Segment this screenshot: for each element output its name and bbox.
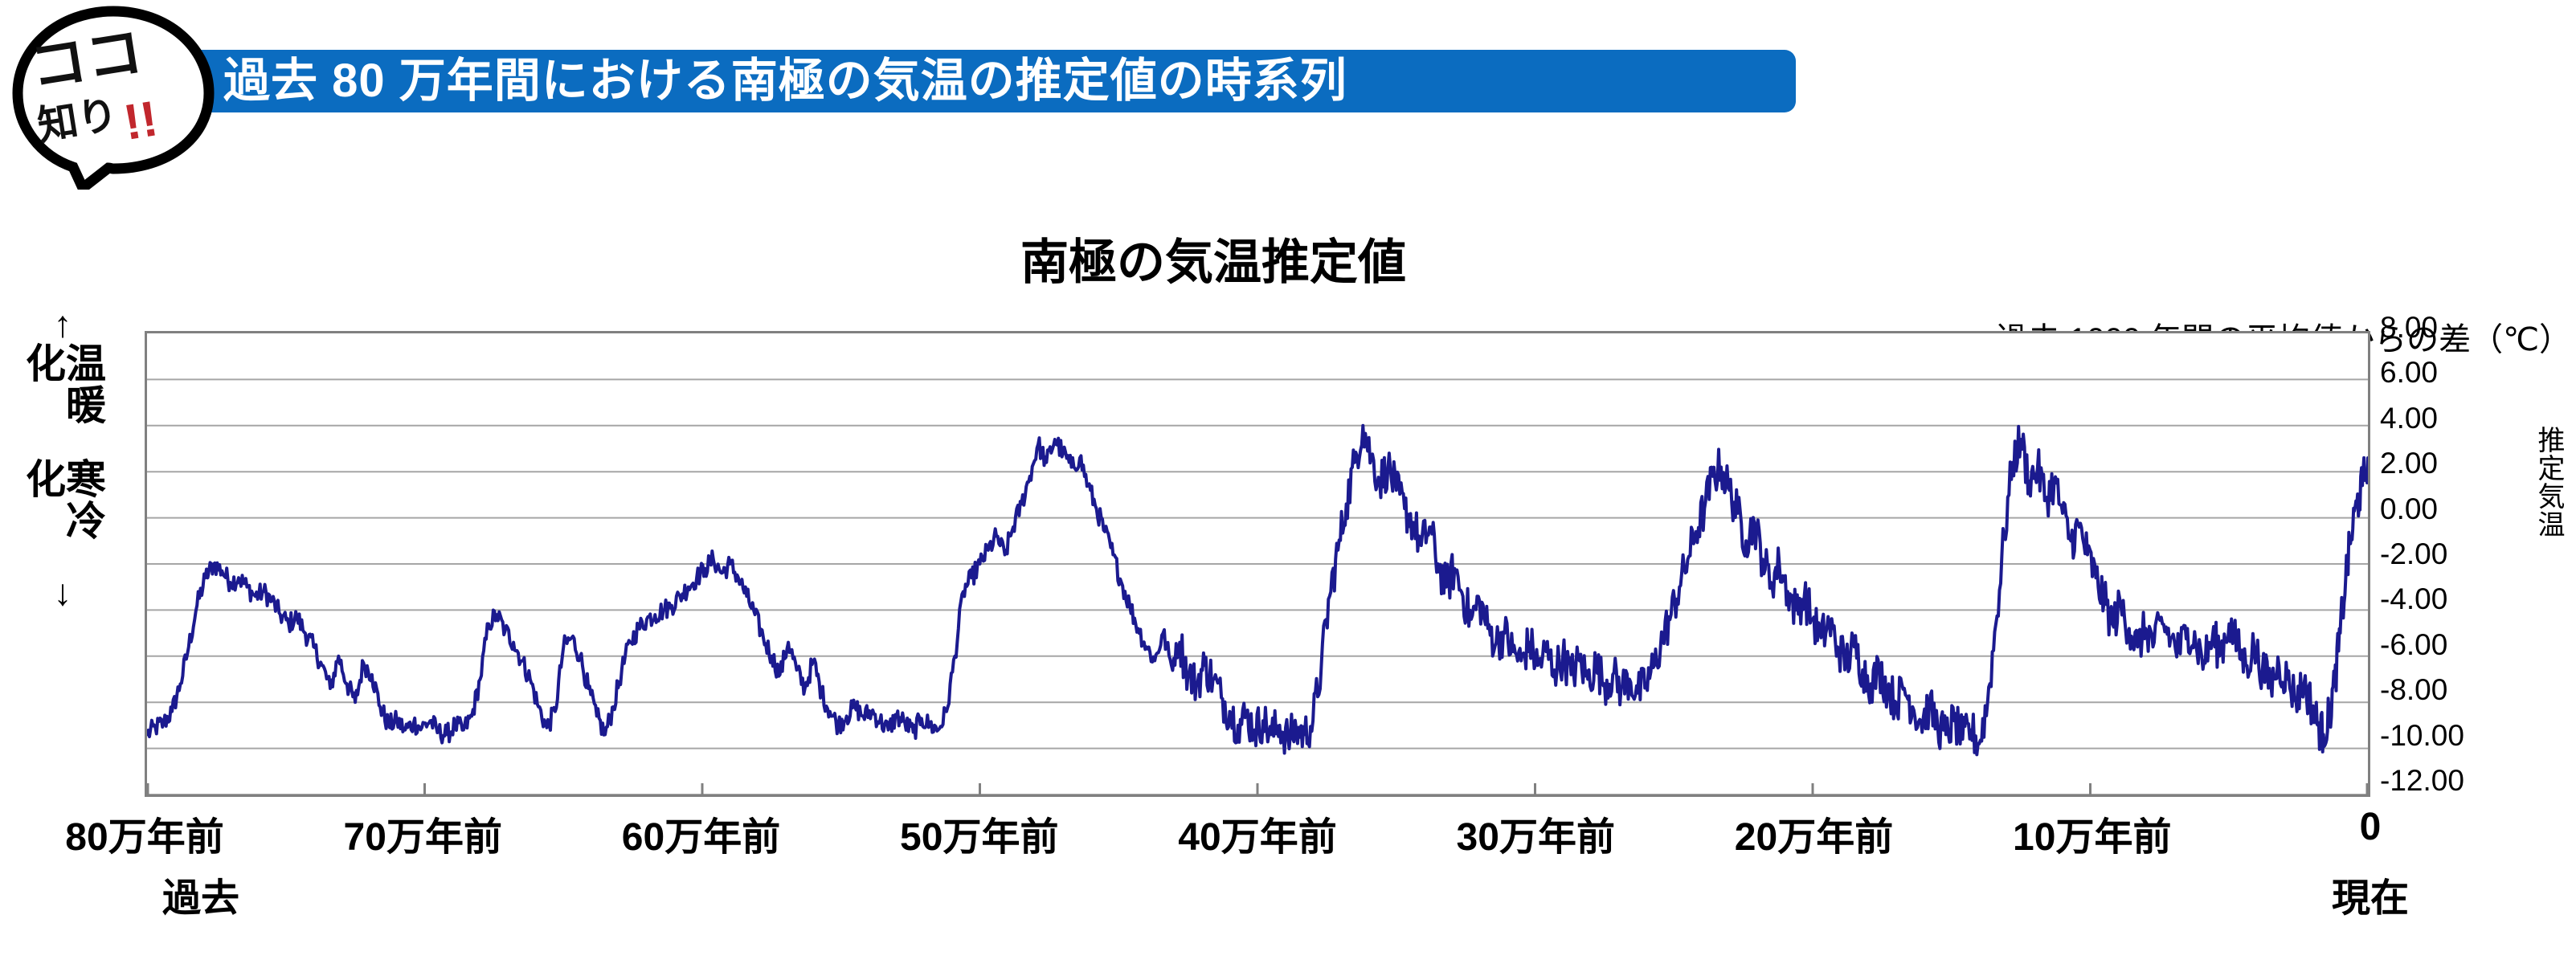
x-tick-label: 60万年前 <box>622 805 780 861</box>
x-axis-tick-labels: 80万年前70万年前60万年前50万年前40万年前30万年前20万年前10万年前… <box>0 805 2576 861</box>
warming-label: 温暖化 <box>22 342 103 458</box>
x-past-note: 過去 <box>162 866 239 922</box>
x-tick-label: 30万年前 <box>1457 805 1615 861</box>
koko-shiri-badge: ココ 知り !! <box>6 5 223 190</box>
y-tick-label: -12.00 <box>2380 764 2464 798</box>
chart-container: 南極の気温推定値 過去 1000 年間の平均値からの差（℃） ↑ 温暖化 寒冷化… <box>0 185 2576 964</box>
y-tick-label: -10.00 <box>2380 719 2464 753</box>
header-banner: 過去 80 万年間における南極の気温の推定値の時系列 ココ 知り !! <box>0 0 2576 185</box>
x-tick-label: 40万年前 <box>1178 805 1336 861</box>
title-bar: 過去 80 万年間における南極の気温の推定値の時系列 <box>193 50 1796 112</box>
down-arrow-icon: ↓ <box>54 574 72 611</box>
y-tick-label: 8.00 <box>2380 311 2438 345</box>
y-tick-label: -4.00 <box>2380 582 2447 616</box>
temperature-series-line <box>147 426 2368 755</box>
x-tick-label: 0 <box>2360 805 2382 849</box>
x-tick-label: 10万年前 <box>2013 805 2171 861</box>
x-tick-label: 70万年前 <box>344 805 502 861</box>
y-tick-label: 6.00 <box>2380 356 2438 390</box>
y-tick-label: 0.00 <box>2380 492 2438 526</box>
left-axis-annotation: ↑ 温暖化 寒冷化 ↓ <box>14 305 111 611</box>
banner-title: 過去 80 万年間における南極の気温の推定値の時系列 <box>223 58 1347 104</box>
chart-title: 南極の気温推定値 <box>1020 223 1406 293</box>
x-axis-end-notes: 過去 現在 <box>0 866 2576 922</box>
cooling-label: 寒冷化 <box>22 458 103 574</box>
y-tick-label: -2.00 <box>2380 537 2447 571</box>
y-axis-tick-labels: 8.006.004.002.000.00-2.00-4.00-6.00-8.00… <box>2380 321 2525 811</box>
y-tick-label: -8.00 <box>2380 673 2447 707</box>
x-tick-label: 50万年前 <box>900 805 1058 861</box>
y-axis-title: 推定気温 <box>2529 426 2569 538</box>
x-present-note: 現在 <box>2332 866 2409 922</box>
up-arrow-icon: ↑ <box>54 305 72 342</box>
y-tick-label: 4.00 <box>2380 402 2438 435</box>
y-tick-label: 2.00 <box>2380 447 2438 480</box>
x-tick-label: 20万年前 <box>1735 805 1893 861</box>
x-tick-label: 80万年前 <box>65 805 223 861</box>
y-tick-label: -6.00 <box>2380 628 2447 662</box>
plot-area <box>145 331 2370 797</box>
x-tick-marks <box>148 783 2367 794</box>
temperature-line-chart <box>147 333 2368 794</box>
